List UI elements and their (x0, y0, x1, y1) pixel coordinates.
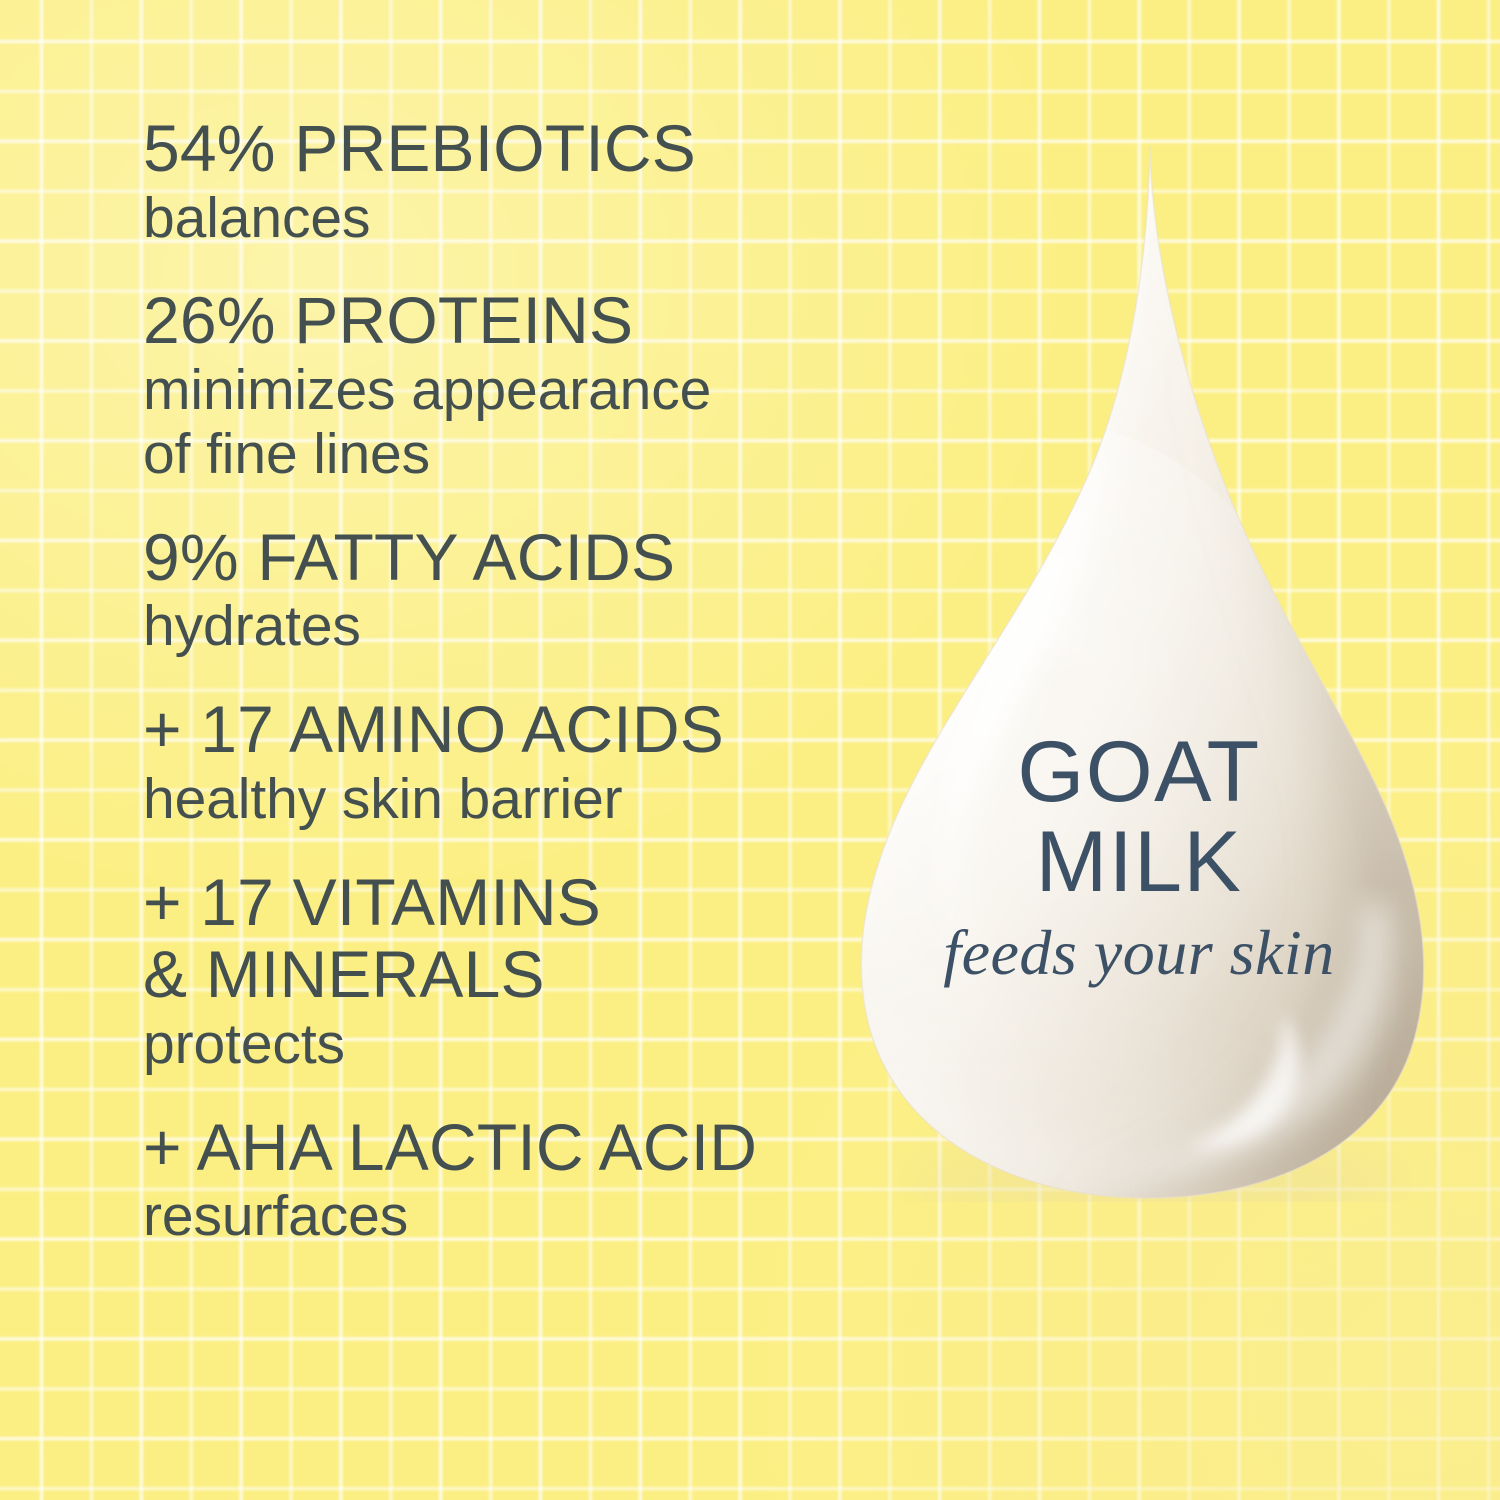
ingredient-benefit: resurfaces (143, 1185, 843, 1249)
ingredient-title: + 17 AMINO ACIDS (143, 693, 843, 766)
ingredient-title: 9% FATTY ACIDS (143, 521, 843, 594)
ingredient-item-fatty-acids: 9% FATTY ACIDS hydrates (143, 521, 843, 659)
ingredient-benefit: hydrates (143, 595, 843, 659)
infographic-canvas: 54% PREBIOTICS balances 26% PROTEINS min… (0, 0, 1500, 1500)
ingredient-benefit: protects (143, 1013, 843, 1077)
ingredient-item-proteins: 26% PROTEINS minimizes appearance of fin… (143, 284, 843, 486)
ingredient-title: + 17 VITAMINS & MINERALS (143, 866, 843, 1011)
ingredient-benefit: healthy skin barrier (143, 768, 843, 832)
ingredient-item-aha-lactic-acid: + AHA LACTIC ACID resurfaces (143, 1111, 843, 1249)
ingredient-benefit: minimizes appearance of fine lines (143, 359, 843, 487)
ingredient-title: 26% PROTEINS (143, 284, 843, 357)
ingredient-item-prebiotics: 54% PREBIOTICS balances (143, 112, 843, 250)
ingredient-title: + AHA LACTIC ACID (143, 1111, 843, 1184)
ingredient-title: 54% PREBIOTICS (143, 112, 843, 185)
ingredient-list: 54% PREBIOTICS balances 26% PROTEINS min… (143, 112, 843, 1249)
ingredient-benefit: balances (143, 187, 843, 251)
milk-droplet-icon (836, 140, 1442, 1202)
ingredient-item-amino-acids: + 17 AMINO ACIDS healthy skin barrier (143, 693, 843, 831)
ingredient-item-vitamins-minerals: + 17 VITAMINS & MINERALS protects (143, 866, 843, 1077)
